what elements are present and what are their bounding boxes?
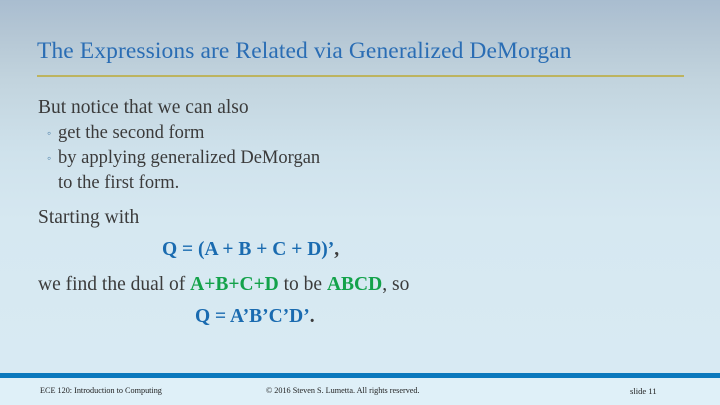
spacer xyxy=(38,196,688,205)
dual-line-part-3: , so xyxy=(382,274,409,295)
equation-second-form-punctuation: . xyxy=(310,306,315,327)
bullet-item-1-label: get the second form xyxy=(58,123,204,143)
bullet-continuation-line: to the first form. xyxy=(38,171,688,196)
bullet-item-2-label: by applying generalized DeMorgan xyxy=(58,148,320,168)
starting-with-line: Starting with xyxy=(38,205,688,231)
dual-explanation-line: we find the dual of A+B+C+D to be ABCD, … xyxy=(38,272,688,298)
dual-line-expression-product: ABCD xyxy=(327,274,382,295)
slide-title: The Expressions are Related via Generali… xyxy=(37,36,685,66)
dual-line-part-2: to be xyxy=(279,274,327,295)
dual-line-part-1: we find the dual of xyxy=(38,274,190,295)
footer-copyright-label: © 2016 Steven S. Lumetta. All rights res… xyxy=(266,386,420,395)
hollow-circle-bullet-icon: ◦ xyxy=(47,146,51,171)
equation-first-form-punctuation: , xyxy=(334,239,339,260)
footer-slide-number: slide 11 xyxy=(630,386,657,396)
slide-body: But notice that we can also ◦ get the se… xyxy=(38,95,688,330)
intro-line: But notice that we can also xyxy=(38,95,688,121)
hollow-circle-bullet-icon: ◦ xyxy=(47,121,51,146)
equation-second-form: Q = A’B’C’D’. xyxy=(38,304,688,330)
title-underline-rule xyxy=(37,75,684,77)
spacer xyxy=(38,263,688,272)
dual-line-expression-sum: A+B+C+D xyxy=(190,274,279,295)
equation-first-form: Q = (A + B + C + D)’, xyxy=(38,237,688,263)
equation-second-form-expression: Q = A’B’C’D’ xyxy=(195,306,310,327)
bullet-item-1: ◦ get the second form xyxy=(38,121,688,146)
presentation-slide: The Expressions are Related via Generali… xyxy=(0,0,720,405)
footer-course-label: ECE 120: Introduction to Computing xyxy=(40,386,162,395)
bullet-item-2: ◦ by applying generalized DeMorgan xyxy=(38,146,688,171)
equation-first-form-expression: Q = (A + B + C + D)’ xyxy=(162,239,334,260)
